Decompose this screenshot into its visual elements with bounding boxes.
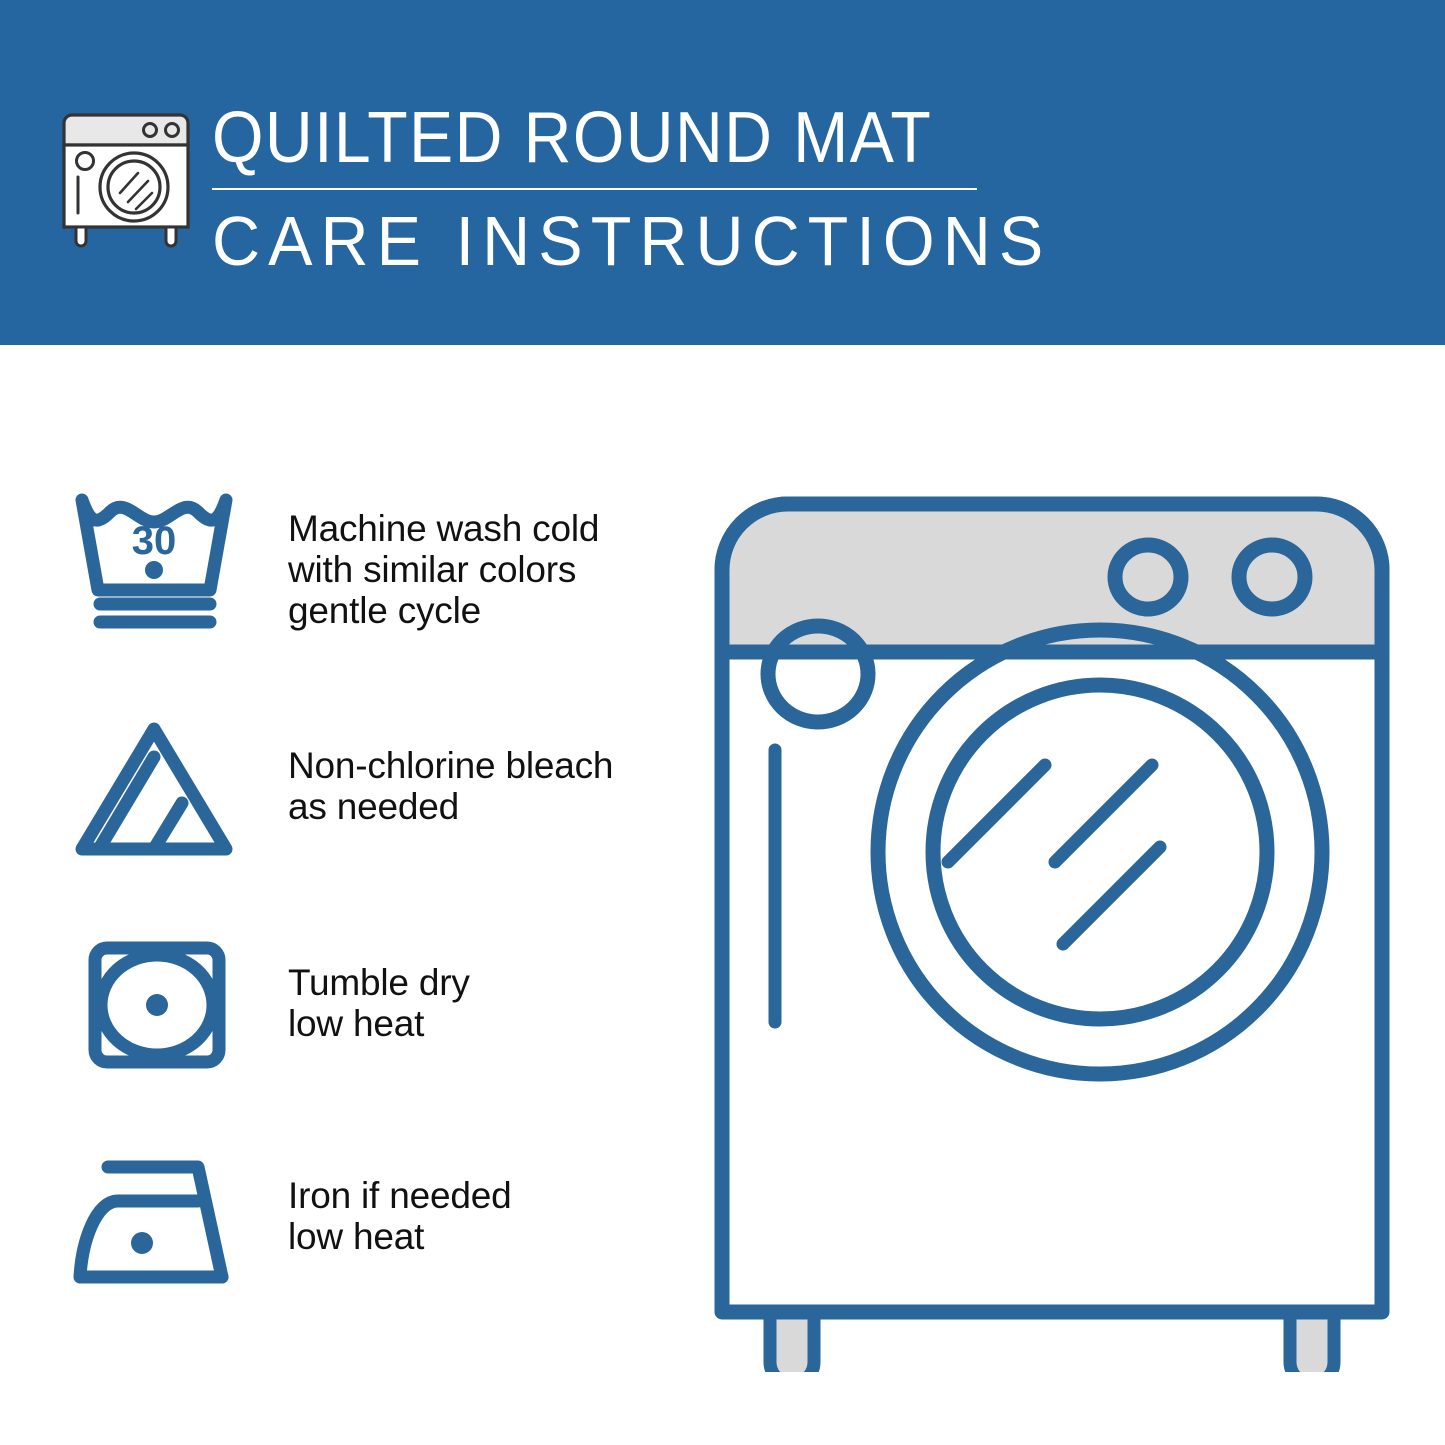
iron-low-heat-icon (70, 1149, 245, 1299)
page-title: QUILTED ROUND MAT (212, 98, 939, 178)
care-line: Non-chlorine bleach (288, 745, 613, 786)
tumble-dry-low-icon (82, 930, 232, 1080)
page-subtitle: CARE INSTRUCTIONS (212, 202, 963, 280)
care-line: Tumble dry (288, 962, 470, 1003)
care-instruction-text: Machine wash cold with similar colors ge… (288, 508, 599, 631)
care-instruction-item: 30 Machine wash cold with similar colors… (60, 482, 700, 697)
care-instruction-list: 30 Machine wash cold with similar colors… (60, 482, 700, 1342)
washing-machine-icon (62, 103, 190, 253)
care-instruction-item: Iron if needed low heat (60, 1127, 700, 1342)
care-line: Iron if needed (288, 1175, 511, 1216)
header-text-block: QUILTED ROUND MAT CARE INSTRUCTIONS (212, 98, 1002, 280)
care-line: with similar colors (288, 549, 599, 590)
care-line: low heat (288, 1003, 470, 1044)
wash-temperature-label: 30 (132, 519, 177, 563)
care-line: as needed (288, 786, 613, 827)
care-instruction-item: Non-chlorine bleach as needed (60, 697, 700, 912)
title-divider (212, 188, 977, 190)
care-instruction-text: Tumble dry low heat (288, 962, 470, 1044)
care-line: low heat (288, 1216, 511, 1257)
care-line: gentle cycle (288, 590, 599, 631)
header-band: QUILTED ROUND MAT CARE INSTRUCTIONS (0, 0, 1445, 345)
washing-machine-illustration (700, 462, 1400, 1372)
non-chlorine-bleach-triangle-icon (70, 717, 245, 867)
care-line: Machine wash cold (288, 508, 599, 549)
care-instructions-page: QUILTED ROUND MAT CARE INSTRUCTIONS 30 (0, 0, 1445, 1445)
care-instruction-item: Tumble dry low heat (60, 912, 700, 1127)
wash-tub-30-gentle-icon: 30 (70, 482, 245, 632)
care-instruction-text: Iron if needed low heat (288, 1175, 511, 1257)
care-instruction-text: Non-chlorine bleach as needed (288, 745, 613, 827)
